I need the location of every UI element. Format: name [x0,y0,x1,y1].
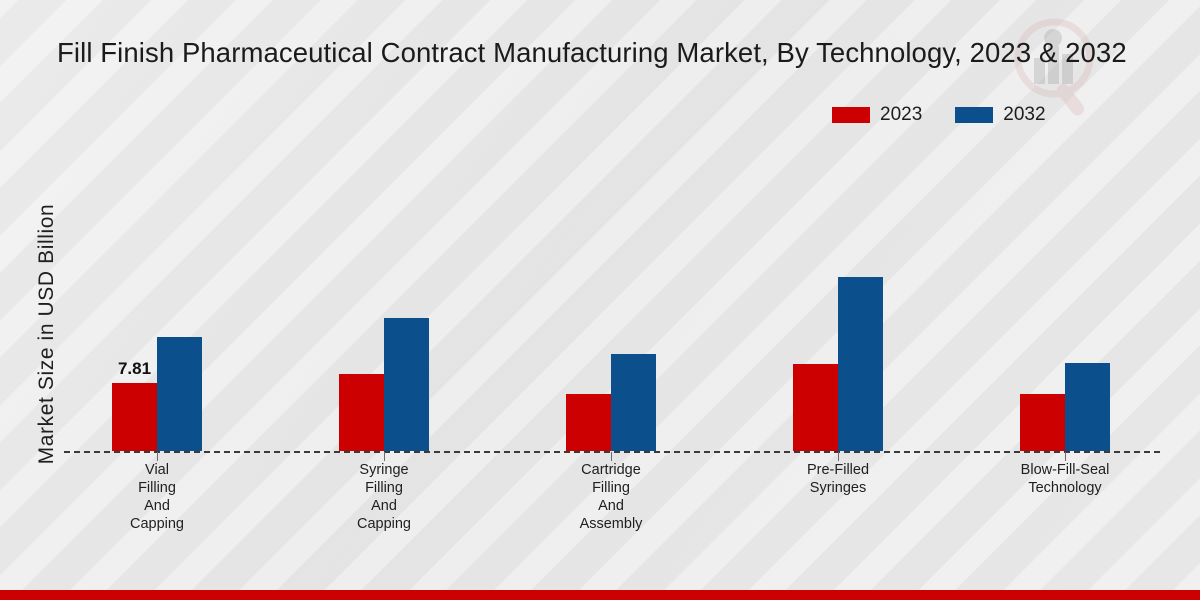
x-axis-baseline [64,451,1160,453]
bar-value-label: 7.81 [118,359,151,379]
x-axis-tick-2 [384,452,385,461]
bar-2023-group-4[interactable] [793,364,838,451]
chart-canvas: Fill Finish Pharmaceutical Contract Manu… [0,0,1200,600]
bar-2032-group-3[interactable] [611,354,656,451]
bar-2023-group-3[interactable] [566,394,611,451]
footer-accent-bar [0,590,1200,600]
bar-2023-group-2[interactable] [339,374,384,451]
x-axis-category-label-3: Cartridge Filling And Assembly [536,461,686,533]
bar-2032-group-2[interactable] [384,318,429,451]
bar-2032-group-1[interactable] [157,337,202,451]
x-axis-category-label-4: Pre-Filled Syringes [763,461,913,497]
x-axis-tick-1 [157,452,158,461]
x-axis-tick-5 [1065,452,1066,461]
bar-2023-group-5[interactable] [1020,394,1065,451]
x-axis-tick-4 [838,452,839,461]
bar-2032-group-5[interactable] [1065,363,1110,451]
bar-2023-group-1[interactable] [112,383,157,451]
x-axis-tick-3 [611,452,612,461]
x-axis-category-label-2: Syringe Filling And Capping [309,461,459,533]
x-axis-category-label-1: Vial Filling And Capping [82,461,232,533]
x-axis-category-label-5: Blow-Fill-Seal Technology [990,461,1140,497]
plot-area: 7.81Vial Filling And CappingSyringe Fill… [0,0,1200,600]
bar-2032-group-4[interactable] [838,277,883,451]
